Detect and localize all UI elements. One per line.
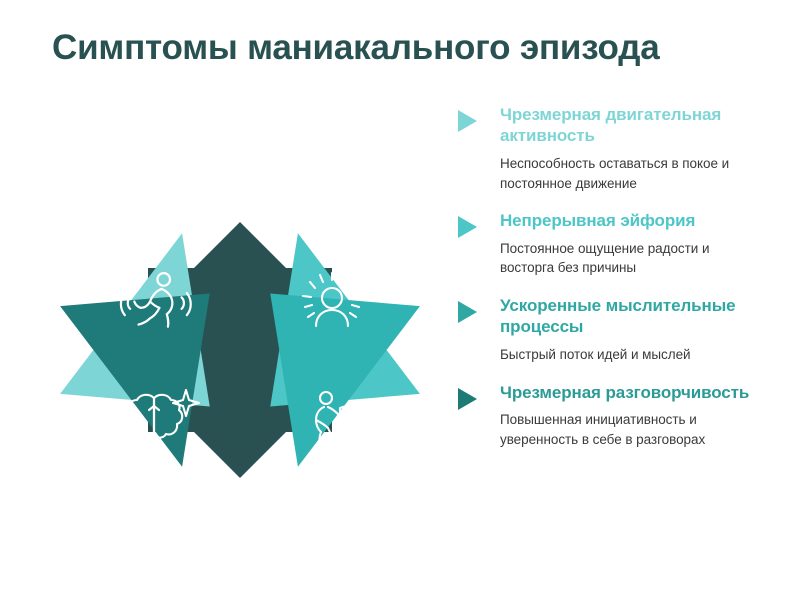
symptom-item-euphoria[interactable]: Непрерывная эйфория Постоянное ощущение …: [458, 210, 758, 278]
triangle-bullet-icon: [458, 388, 477, 410]
symptom-item-racing-thoughts[interactable]: Ускоренные мыслительные процессы Быстрый…: [458, 295, 758, 365]
symptom-heading: Чрезмерная разговорчивость: [500, 382, 758, 403]
symptom-heading: Чрезмерная двигательная активность: [500, 104, 758, 147]
symptom-item-hyperactivity[interactable]: Чрезмерная двигательная активность Неспо…: [458, 104, 758, 193]
page-title: Симптомы маниакального эпизода: [52, 28, 762, 68]
infographic-canvas: Симптомы маниакального эпизода: [0, 0, 792, 610]
symptom-body: Постоянное ощущение радости и восторга б…: [500, 239, 758, 278]
symptom-heading: Ускоренные мыслительные процессы: [500, 295, 758, 338]
triangle-bullet-icon: [458, 216, 477, 238]
triangle-bullet-icon: [458, 110, 477, 132]
symptom-item-talkativeness[interactable]: Чрезмерная разговорчивость Повышенная ин…: [458, 382, 758, 450]
symptom-heading: Непрерывная эйфория: [500, 210, 758, 231]
triangle-bullet-icon: [458, 301, 477, 323]
graphic-svg: [40, 150, 440, 550]
symptom-list: Чрезмерная двигательная активность Неспо…: [458, 104, 758, 466]
symptom-body: Повышенная инициативность и уверенность …: [500, 410, 758, 449]
symptom-body: Быстрый поток идей и мыслей: [500, 345, 758, 365]
central-graphic: [40, 150, 440, 550]
symptom-body: Неспособность оставаться в покое и посто…: [500, 154, 758, 193]
